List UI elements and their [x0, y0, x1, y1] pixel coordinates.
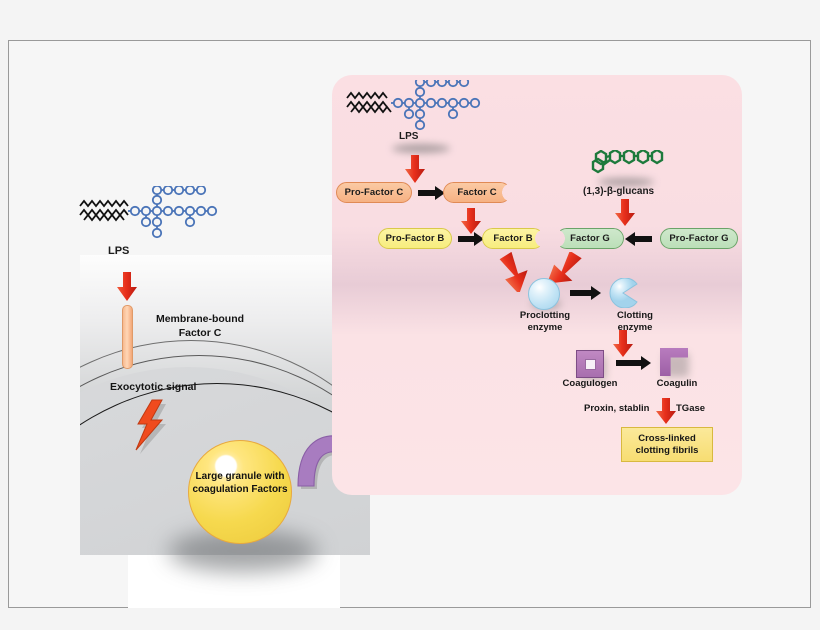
fibrils-line2: clotting fibrils: [636, 445, 699, 456]
arrow-profactorg-to-factorg: [634, 236, 652, 242]
mb-line1: Membrane-bound: [156, 313, 244, 325]
granule-line1: Large granule with: [196, 471, 285, 482]
node-label: Pro-Factor C: [345, 187, 404, 198]
clotting-line1: Clotting: [617, 310, 653, 321]
proclotting-enzyme-label: Proclotting enzyme: [500, 310, 590, 334]
membrane-bound-factor-c-label: Membrane-bound Factor C: [150, 312, 250, 340]
lps-label-left: LPS: [108, 245, 129, 257]
clotting-enzyme-action-arrow: [611, 330, 635, 358]
node-pro-factor-b[interactable]: Pro-Factor B: [378, 228, 452, 249]
node-label: Factor G: [570, 233, 610, 244]
factor-c-activation-arrow: [459, 208, 483, 235]
glucan-activation-arrow: [613, 199, 637, 227]
cross-linked-clotting-fibrils-box[interactable]: Cross-linked clotting fibrils: [621, 427, 713, 462]
fibrils-line1: Cross-linked: [638, 433, 696, 444]
coagulogen-label: Coagulogen: [552, 378, 628, 389]
coagulin-label: Coagulin: [640, 378, 714, 389]
beta-glucan-label: (1,3)-β-glucans: [583, 186, 654, 197]
clotting-enzyme[interactable]: [608, 278, 638, 308]
tgase-label: TGase: [676, 403, 705, 414]
node-pro-factor-c[interactable]: Pro-Factor C: [336, 182, 412, 203]
arrow-profactorb-to-factorb: [458, 236, 475, 242]
lps-to-receptor-arrow: [115, 272, 139, 302]
crosslinking-arrow: [655, 398, 677, 425]
mb-line2: Factor C: [179, 327, 222, 339]
node-pro-factor-g[interactable]: Pro-Factor G: [660, 228, 738, 249]
membrane-bound-factor-c-receptor: [122, 305, 133, 369]
node-label: Factor C: [457, 187, 496, 198]
lps-activation-arrow: [403, 155, 427, 184]
coagulogen-center: [585, 359, 596, 370]
lps-molecule-left: [78, 186, 243, 242]
beta-glucan-molecule: [588, 150, 674, 176]
glucan-shadow: [598, 178, 654, 186]
proclotting-line1: Proclotting: [520, 310, 570, 321]
arrow-profactorc-to-factorc: [418, 190, 436, 196]
node-factor-b[interactable]: Factor B: [482, 228, 544, 249]
lightning-bolt-icon: [132, 398, 174, 454]
lps-label-right: LPS: [399, 131, 418, 142]
lps-shadow: [392, 144, 450, 153]
exocytotic-signal-label: Exocytotic signal: [110, 381, 196, 393]
node-label: Factor B: [493, 233, 532, 244]
proclotting-line2: enzyme: [528, 322, 563, 333]
node-label: Pro-Factor B: [386, 233, 445, 244]
node-label: Pro-Factor G: [669, 233, 728, 244]
arrow-proclotting-to-clotting: [570, 290, 592, 296]
arrow-coagulogen-to-coagulin: [616, 360, 642, 366]
lps-molecule-right: [345, 80, 510, 134]
proxin-stablin-label: Proxin, stablin: [584, 403, 649, 414]
proclotting-enzyme[interactable]: [528, 278, 560, 310]
granule-label: Large granule with coagulation Factors: [190, 470, 290, 496]
granule-line2: coagulation Factors: [192, 484, 287, 495]
clotting-enzyme-label: Clotting enzyme: [595, 310, 675, 334]
figure-canvas: LPS Membrane-bound Factor C Exocytotic s…: [0, 0, 820, 630]
node-factor-g[interactable]: Factor G: [556, 228, 624, 249]
node-factor-c[interactable]: Factor C: [443, 182, 511, 203]
